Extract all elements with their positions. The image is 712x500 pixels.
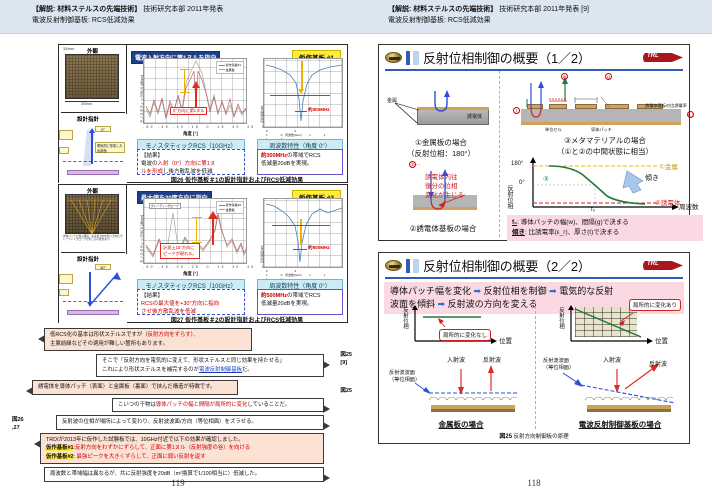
phase-label-dielectric: ②誘電体 [655,197,680,207]
note-slope-text: : 比誘電率(ε_r)、厚さ(t)で決まる [525,229,619,236]
slide-2-divider [535,301,536,429]
meta-cell-label: 単位セル [545,127,562,133]
fig27-rcs-xticks: -60 -45 -30 -15 0 15 30 45 60 [143,265,271,269]
phase-label-metal: ①金属 [659,161,678,171]
side-tag-fig25-a: 図25 [9] [340,352,352,367]
fig26-result-box: 【結果】 電波の入射（0°）方向に第1ヌ ルを形成し後方散乱波を低減 [137,149,245,175]
fig27-photo-rays [65,194,119,234]
bubble-2: そこで「反射方向を電気的に変えて、形状ステルスと同じ効果を持たせる」 これにより… [96,354,324,377]
comment-bubbles: 低RCS化の基本は形状ステルスですが（反射方向をずらす）、 主翼前縁などその適用… [30,328,348,485]
fig26-result-box-right: 約300MHzの帯域でRCS 低減量20dBを実現。 [257,149,343,175]
case1-caption-2: （反射位相：180°） [387,148,495,159]
left-reflection-diagram: 入射波 反射波 反射波波面 （等位相面） [389,355,533,417]
left-graph-xlabel: 位置 [499,335,512,345]
fig27-result-r2: の帯域でRCS [287,293,321,299]
fig27-angle-label: 30° [95,264,111,270]
case3-diagram: w g t ε_r 単位セル 導体パッチ 誘電体基板の比誘電率 [505,77,705,137]
bubble-4-b: していることだ。 [247,402,290,408]
phase-label-curve: ③ [543,175,549,183]
fig26-rcs-xticks: -60 -45 -30 -15 0 15 30 45 60 [143,125,271,129]
bubble-2-l1: そこで「反射方向を電気的に変えて、形状ステルスと同じ効果を持たせる」 [102,357,318,366]
trl-label-2: TRL [647,261,659,267]
figure-26-right-column: 電波入射方向に第1ヌルを指向 仮作基板 #1 仮作基板#1 [127,45,347,182]
phase-slope-label: 傾き [645,173,659,183]
side-tag-fig25-a-text: 図25 [340,352,352,360]
title-bar-mark-2 [406,259,410,273]
left-graph-ylabel: 反射位相 [401,307,409,329]
fig27-freq-chart: 約500MHz [263,198,343,268]
banner-b: 反射位相を制御 [484,286,547,296]
fig27-rcs-xlabel: 角度 [°] [183,271,198,277]
banner-a: 導体パッチ幅を変化 [390,286,471,296]
fig27-freq-trace [264,199,344,269]
right-header-line-2: 電波反射制御基板: RCS低減効果 [388,15,712,26]
bubble-6-l3: : 最強ピークを大きくずらして、正面に弱い反射を返す [74,454,206,460]
case3-caption-2: （①と②の中間状態に相当） [505,146,705,157]
banner-arrow-1-icon: ➡ [474,286,482,296]
title-bar-mark [406,51,410,65]
trdi-logo-icon [385,52,402,63]
fig27-rcs-ylabel: モノスタティックRCS [dBsm] [140,215,145,263]
case1-dielectric-label: 誘電体 [467,113,482,120]
fig26-dash-line [63,161,123,162]
right-reflect-label: 反射波 [649,359,667,368]
fig26-photo [65,54,119,99]
right-graph-ylabel: 反射位相 [557,307,565,329]
right-wavefront-label-2: （等位相面） [543,364,574,371]
fig27-freq-ylabel: 反射強度[dB] [260,246,264,263]
bubble-4-hl: 導体パッチの幅と間隔が局所的に変化 [156,402,248,408]
case1-metal-label: 金属 [387,97,397,104]
fig26-result-r2: の帯域でRCS [287,153,321,159]
fig26-result-r1: 約300MHz [261,153,287,159]
slide-1-title-row: 反射位相制御の概要（1／2） TRL [379,45,689,69]
slide-2-title: 反射位相制御の概要（2／2） [423,256,591,275]
bubble-5: 反射波の位相が場所によって変わり、反射波波面/方向（等位相面）をズラせる。 [56,415,324,430]
right-page: 【解説: 材料ステルスの先端技術】 技術研究本部 2011年発表 [9] 電波反… [356,0,712,500]
meta-patch-label: 導体パッチ [591,127,612,133]
bubble-1-a: 低RCS化の基本は形状ステルスですが（ [50,332,148,338]
phase-xlabel: 周波数 [679,201,699,211]
bubble-6: TRDIが2013年に仮作した試験板では、10GHz付近で以下の効果が確認しまし… [40,433,324,465]
left-page-header: 【解説: 材料ステルスの先端技術】 技術研究本部 2011年発表 電波反射制御基… [0,0,356,34]
bubble-2-l2a: これにより形状ステルスを補完するのが [102,367,199,373]
meta-g-marker: g [605,73,612,80]
left-wavefront-label-2: （等位相面） [389,376,420,383]
meta-w-label: w [561,73,568,80]
fig26-result-b2: 入射（0°）方向に第1ヌ [158,161,216,167]
fig26-schematic-label: 設計指針 [77,115,99,123]
bubble-6-l2: :反射方向をわずかにずらして、正面に第1ヌル（反射強度の谷）を向ける [74,445,251,451]
header-line-1: 【解説: 材料ステルスの先端技術】 技術研究本部 2011年発表 [32,4,356,15]
fig26-result-head: 【結果】 [141,152,241,160]
bubble-2-hl: 電波反射制御基板 [199,367,242,373]
fig26-scale-bottom: 300mm [81,102,92,106]
fig26-result-r3: 低減量20dBを実現。 [261,160,339,168]
meta-w-marker: w [561,73,568,80]
bubble-6-l1: TRDIが2013年に仮作した試験板では、10GHz付近で以下の効果が確認しまし… [46,436,318,445]
case3-caption-1: ③メタマテリアルの場合 [505,135,705,146]
case2-caption: ②誘電体基板の場合 [387,223,499,234]
fig26-legend-item-0: 仮作基板#1 [226,63,241,67]
side-tag-fig2627: 図26 ,27 [12,417,24,432]
meta-epsr-marker: ε_r [687,111,694,118]
trl-label: TRL [647,53,659,59]
right-wavefront-label-1: 反射波波面 [543,357,569,364]
case2-circle-marker: ②- - [409,161,421,168]
bubble-6-badge2: 仮作基板#2 [46,454,74,460]
fig26-result-b1: 電波の [141,161,158,167]
slide-2-figure-caption: 図25 反射方向制御板の原理 [379,431,689,440]
left-reflect-label: 反射波 [483,355,501,364]
left-wavefront-pattern [429,395,517,403]
fig27-result-box-right: 約500MHzの帯域でRCS 低減量20dBを実現。 [257,289,343,315]
note-slope-label: 傾き [512,229,525,236]
right-page-number: 118 [356,478,712,488]
slide-1-note-box: f₀: 導体パッチの幅(w)、間隔(g)で決まる 傾き: 比誘電率(ε_r)、厚… [507,215,703,241]
right-header-bracket-title: 【解説: 材料ステルスの先端技術】 [388,6,497,13]
fig27-caption: 図27 仮作基板＃2の設計指針およびRCS低減効果 [127,315,347,324]
trdi-logo-icon-2 [385,260,402,271]
phase-frequency-graph: 180° 0° 反射位相 周波数 f₀ ①金属 ②誘電体 ③ 傾き [509,157,699,215]
fig26-rcs-xlabel: 角度 [°] [183,131,198,137]
fig27-legend: 仮作基板#2 金属板 [216,201,244,214]
banner-arrow-2-icon: ➡ [549,286,557,296]
meta-g-label: g [605,73,612,80]
note-f0-text: : 導体パッチの幅(w)、間隔(g)で決まる [517,219,629,226]
figure-26-block: 300mm 外観 300mm 設計指針 0° 電気的に形成した反射面 [58,44,348,183]
fig27-photo-note: 導体パッチが並ぶ構造（主反射方向を除く方向にグレーティングローブが生じる可能性あ… [63,235,125,242]
right-wavefront-pattern [585,395,673,403]
fig26-angle-label: 0° [95,126,111,132]
fig27-freq-annotation: 約500MHz [308,245,330,251]
case1-diagram: 金属 誘電体 [387,89,495,137]
side-tag-fig26-text: 図26 [12,417,24,425]
right-incident-label: 入射波 [603,355,621,364]
side-tag-fig25-b: 図25 [340,388,352,396]
meta-er-note: 誘電体基板の比誘電率 [645,103,689,108]
fig26-freq-ylabel: 反射強度[dB] [260,106,264,123]
fig27-ground-plane [67,310,119,315]
fig26-freq-annotation: 約300MHz [308,107,330,113]
fig27-legend-item-0: 仮作基板#2 [226,203,241,207]
slide-2: 反射位相制御の概要（2／2） TRL 導体パッチ幅を変化 ➡ 反射位相を制御 ➡… [378,252,690,444]
fig26-freq-chart: 約300MHz [263,58,343,128]
slide-1: 反射位相制御の概要（1／2） TRL 金属 誘電体 [378,44,690,241]
fig26-schematic: 設計指針 0° 電気的に形成した反射面 [59,114,127,183]
side-tag-fig25-b-text: 図25 [340,388,352,396]
left-phase-graph: 反射位相 位置 局所的に変化なし [389,305,529,349]
right-graph-note: 局所的に変化あり [629,299,681,311]
header-org-year: 技術研究本部 2011年発表 [143,6,223,13]
trl-badge-2: TRL [643,259,683,273]
left-diagram-caption: 金属板の場合 [389,419,533,430]
fig26-freq-trace [264,59,344,129]
slide-2-figure-text: 反射方向制御板の原理 [514,434,569,440]
header-bracket-title: 【解説: 材料ステルスの先端技術】 [32,6,141,13]
trl-badge: TRL [643,51,683,65]
right-graph-xlabel: 位置 [655,335,668,345]
slide-1-divider [499,71,500,237]
fig27-result-box: 【結果】 RCSの最大値を+30°方向に指向 させ後方散乱波を低減 [137,289,245,315]
phase-x-tick: f₀ [591,207,595,213]
meta-t-label: t [513,107,520,114]
bubble-1: 低RCS化の基本は形状ステルスですが（反射方向をずらす）、 主翼前縁などその適用… [44,328,252,351]
left-incident-label: 入射波 [447,355,465,364]
figure-27-block: 外観 導体パッチが並ぶ構造（主反射方向を除く方向にグレーティングローブが生じる可… [58,184,348,323]
figure-27-left-column: 外観 導体パッチが並ぶ構造（主反射方向を除く方向にグレーティングローブが生じる可… [59,185,127,322]
right-page-header: 【解説: 材料ステルスの先端技術】 技術研究本部 2011年発表 [9] 電波反… [356,0,712,34]
slide-1-title: 反射位相制御の概要（1／2） [423,48,591,67]
fig27-result-r3: 低減量20dBを実現。 [261,300,339,308]
book-spread: 【解説: 材料ステルスの先端技術】 技術研究本部 2011年発表 電波反射制御基… [0,0,712,500]
right-phase-graph: 反射位相 位置 局所的に変化あり [545,305,695,349]
right-header-org-year: 技術研究本部 2011年発表 [9] [499,6,589,13]
bubble-3-l1: 誘電体を導体パッチ（表面）と金属板（裏面）で挟んだ構造が特徴です。 [38,383,232,392]
meta-eps-label: ε_r [687,111,694,118]
fig27-legend-item-1: 金属板 [226,208,235,212]
fig26-scale-top: 300mm [63,47,74,51]
bubble-6-badge1: 仮作基板#1 [46,445,74,451]
fig26-rcs-chart: 仮作基板#1 金属板 0°方向に第1ヌル [143,58,247,124]
bubble-3: 誘電体を導体パッチ（表面）と金属板（裏面）で挟んだ構造が特徴です。 [32,380,238,395]
right-diagram-caption: 電波反射制御基板の場合 [545,419,695,430]
phase-ylabel: 反射位相 [505,185,514,209]
phase-y-top-label: 180° [511,161,523,167]
fig27-tilted-arrow [89,268,129,308]
fig26-legend-item-1: 金属板 [226,68,235,72]
fig26-rcs-ylabel: モノスタティックRCS [dBsm] [140,75,145,123]
figure-26-left-column: 300mm 外観 300mm 設計指針 0° 電気的に形成した反射面 [59,45,127,182]
side-tag-fig27-text: ,27 [12,425,24,433]
left-wavefront-label-1: 反射波波面 [389,369,415,376]
side-tag-fig25-a-ref: [9] [340,360,352,368]
bubble-4: こいつの干物は導体パッチの幅と間隔が局所的に変化していることだ。 [112,398,324,413]
fig27-schematic-label: 設計指針 [77,255,99,263]
slide-2-title-underline [385,277,683,279]
right-reflection-diagram: 入射波 反射波 反射波波面 （等位相面） [545,355,695,417]
left-page: 【解説: 材料ステルスの先端技術】 技術研究本部 2011年発表 電波反射制御基… [0,0,356,500]
fig27-result-b1: RCSの最大値を+30°方向に指向 [141,300,241,308]
fig27-chart-annotation: 計測上15°方向に ピークが現れる。 [160,243,200,259]
slide-2-title-row: 反射位相制御の概要（2／2） TRL [379,253,689,277]
bubble-2-l2b: だ。 [242,367,253,373]
fig27-freq-xlabel: 周波数[GHz] [285,273,302,277]
fig26-schematic-note: 電気的に形成した反射面 [95,142,125,153]
title-bar-mark-light [413,51,419,65]
right-header-line-1: 【解説: 材料ステルスの先端技術】 技術研究本部 2011年発表 [9] [388,4,712,15]
fig27-grating-label: グレーティングローブ [149,203,181,209]
case1-caption-1: ①金属板の場合 [387,137,495,148]
fig26-chart-annotation: 0°方向に第1ヌル [170,107,207,115]
bubble-5-l1: 反射波の位相が場所によって変わり、反射波波面/方向（等位相面）をズラせる。 [62,418,318,427]
left-page-number: 119 [0,478,356,488]
meta-eps-marker: t [513,107,520,114]
fig27-result-head: 【結果】 [141,292,241,300]
header-line-2: 電波反射制御基板: RCS低減効果 [32,15,356,26]
case2-note-l3: 変化が生じる [425,189,464,199]
title-bar-mark-light-2 [413,259,419,273]
bubble-1-b: ）、 [191,332,199,338]
fig27-rcs-chart: グレーティングローブ 仮作基板#2 金属板 計測上15°方向に ピー [143,198,247,264]
fig27-schematic: 設計指針 30° [59,254,127,323]
figure-27-right-column: 最大値を30度方向に指向 仮作基板 #2 グレーティングローブ 仮作基板#2 [127,185,347,322]
fig27-result-r1: 約500MHz [261,293,287,299]
fig26-ground-plane [67,170,119,175]
fig26-caption: 図26 仮作基板＃1の設計指針およびRCS低減効果 [127,175,347,184]
slide-2-figure-number: 図25 [499,434,512,440]
left-graph-note: 局所的に変化なし [439,329,491,341]
banner-c: 電気的な反射 [559,286,613,296]
bubble-1-l2: 主翼前縁などその適用が難しい箇所もあります。 [50,340,246,349]
fig26-freq-xlabel: 周波数[GHz] [285,133,302,137]
bubble-1-hl: 反射方向をずらす [148,332,191,338]
fig26-legend: 仮作基板#1 金属板 [216,61,244,74]
fig27-annot-l2: ピークが現れる。 [163,251,197,257]
slide-1-title-underline [385,69,683,71]
bubble-4-a: こいつの干物は [118,402,156,408]
phase-y-mid-label: 0° [519,180,525,186]
